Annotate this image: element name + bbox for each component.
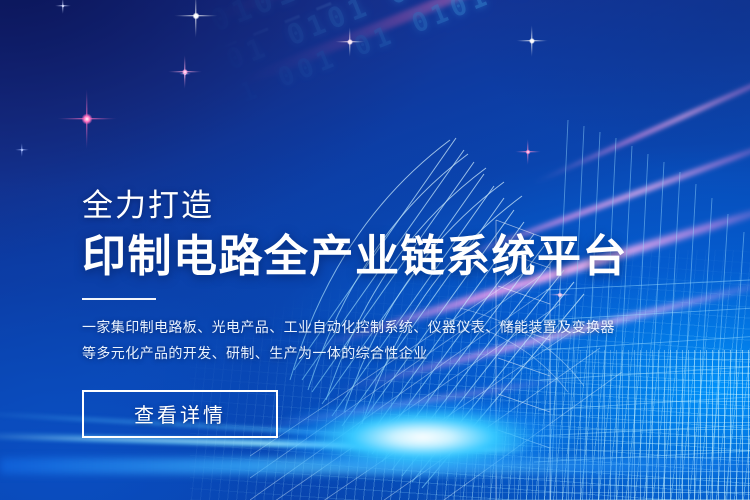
hero-eyebrow: 全力打造 — [82, 190, 642, 221]
hero-description-line-1: 一家集印制电路板、光电产品、工业自动化控制系统、仪器仪表、储能装置及变换器 — [82, 314, 642, 340]
view-details-button[interactable]: 查看详情 — [82, 390, 278, 438]
hero-divider — [82, 298, 156, 300]
hero-description: 一家集印制电路板、光电产品、工业自动化控制系统、仪器仪表、储能装置及变换器 等多… — [82, 314, 642, 366]
hero-description-line-2: 等多元化产品的开发、研制、生产为一体的综合性企业 — [82, 340, 642, 366]
hero-content: 全力打造 印制电路全产业链系统平台 一家集印制电路板、光电产品、工业自动化控制系… — [82, 190, 642, 438]
hero-banner: 01 001 01 0101 01 001 01 10 0101 01 1 01… — [0, 0, 750, 500]
hero-headline: 印制电路全产业链系统平台 — [82, 234, 642, 281]
